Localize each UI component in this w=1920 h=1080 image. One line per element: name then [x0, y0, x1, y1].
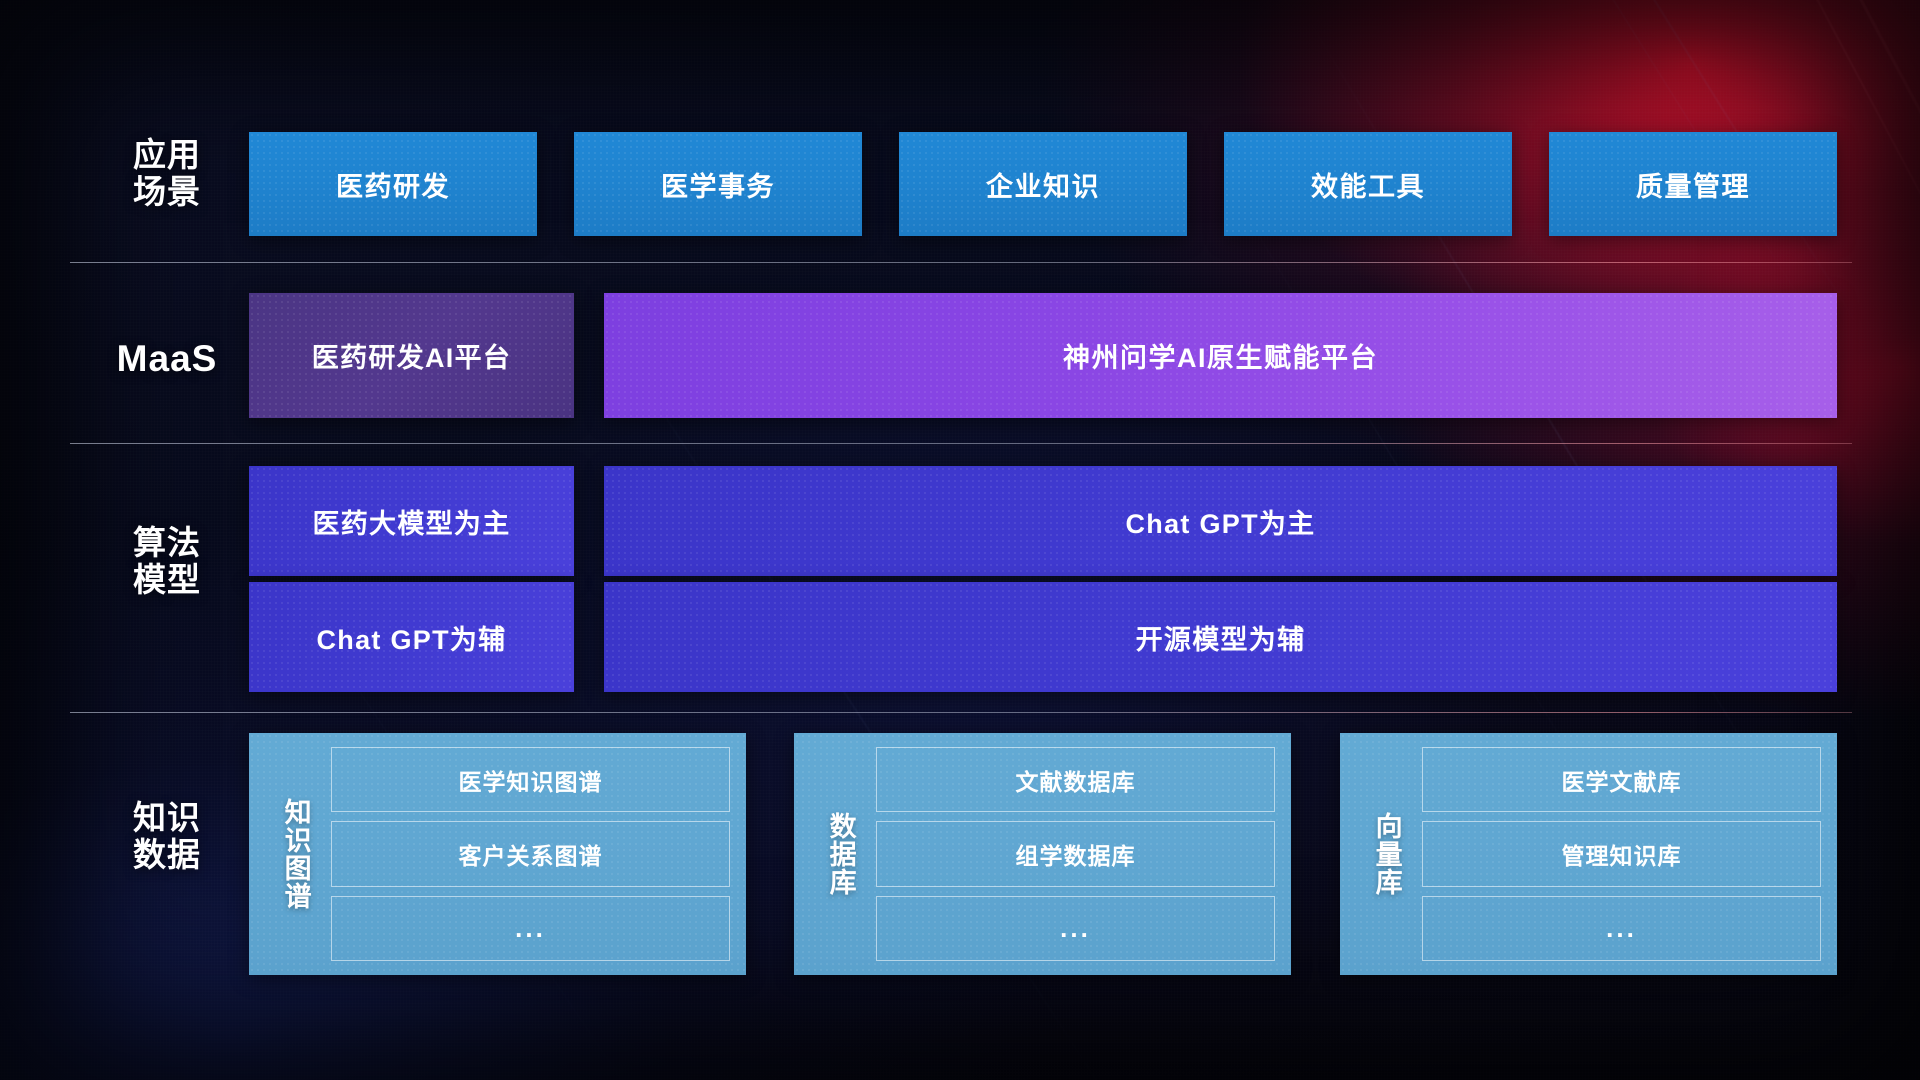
application-box-label: 医学事务: [661, 165, 775, 204]
application-box-medicine-rd[interactable]: 医药研发: [249, 132, 537, 236]
tier-label-knowledge: 知识 数据: [78, 800, 256, 874]
application-box-label: 效能工具: [1311, 165, 1425, 204]
algorithm-box-label: 开源模型为辅: [1136, 618, 1306, 657]
application-box-medical-affairs[interactable]: 医学事务: [574, 132, 862, 236]
application-box-quality-management[interactable]: 质量管理: [1549, 132, 1837, 236]
tier-divider-3: [70, 712, 1852, 713]
knowledge-card-item[interactable]: 医学文献库: [1422, 747, 1821, 812]
tier-divider-2: [70, 443, 1852, 444]
knowledge-card-title: 知识图谱: [259, 747, 331, 961]
knowledge-card-item[interactable]: 文献数据库: [876, 747, 1275, 812]
algorithm-box-medicine-large-model-primary[interactable]: 医药大模型为主: [249, 466, 574, 576]
knowledge-card-item[interactable]: 组学数据库: [876, 821, 1275, 886]
architecture-diagram: 应用 场景 医药研发 医学事务 企业知识 效能工具 质量管理 MaaS 医药研发…: [0, 0, 1920, 1080]
knowledge-card-item[interactable]: 医学知识图谱: [331, 747, 730, 812]
tier-label-maas: MaaS: [78, 338, 256, 379]
algorithm-box-chatgpt-primary[interactable]: Chat GPT为主: [604, 466, 1837, 576]
algorithm-box-chatgpt-secondary[interactable]: Chat GPT为辅: [249, 582, 574, 692]
knowledge-card-item[interactable]: 管理知识库: [1422, 821, 1821, 886]
algorithm-box-open-source-secondary[interactable]: 开源模型为辅: [604, 582, 1837, 692]
knowledge-card-item-list: 医学文献库 管理知识库 ...: [1422, 747, 1821, 961]
algorithm-box-label: Chat GPT为主: [1125, 502, 1315, 541]
knowledge-card-item[interactable]: 客户关系图谱: [331, 821, 730, 886]
knowledge-card-item-list: 文献数据库 组学数据库 ...: [876, 747, 1275, 961]
knowledge-card-item-more[interactable]: ...: [1422, 896, 1821, 961]
knowledge-card-knowledge-graph[interactable]: 知识图谱 医学知识图谱 客户关系图谱 ...: [249, 733, 746, 975]
knowledge-card-title: 数据库: [804, 747, 876, 961]
application-box-label: 企业知识: [986, 165, 1100, 204]
knowledge-card-item-more[interactable]: ...: [331, 896, 730, 961]
maas-box-label: 医药研发AI平台: [312, 336, 511, 375]
tier-label-algorithm: 算法 模型: [78, 525, 256, 599]
algorithm-box-label: 医药大模型为主: [312, 502, 510, 541]
application-box-efficiency-tools[interactable]: 效能工具: [1224, 132, 1512, 236]
maas-box-label: 神州问学AI原生赋能平台: [1063, 336, 1378, 375]
tier-label-application: 应用 场景: [78, 137, 256, 211]
knowledge-card-item-more[interactable]: ...: [876, 896, 1275, 961]
application-box-label: 质量管理: [1636, 165, 1750, 204]
application-box-label: 医药研发: [336, 165, 450, 204]
tier-divider-1: [70, 262, 1852, 263]
knowledge-card-database[interactable]: 数据库 文献数据库 组学数据库 ...: [794, 733, 1291, 975]
maas-box-medicine-rd-ai-platform[interactable]: 医药研发AI平台: [249, 293, 574, 418]
algorithm-box-label: Chat GPT为辅: [316, 618, 506, 657]
maas-box-shenzhou-wenxue-platform[interactable]: 神州问学AI原生赋能平台: [604, 293, 1837, 418]
knowledge-card-item-list: 医学知识图谱 客户关系图谱 ...: [331, 747, 730, 961]
knowledge-card-title: 向量库: [1350, 747, 1422, 961]
application-box-enterprise-knowledge[interactable]: 企业知识: [899, 132, 1187, 236]
knowledge-card-vector-store[interactable]: 向量库 医学文献库 管理知识库 ...: [1340, 733, 1837, 975]
